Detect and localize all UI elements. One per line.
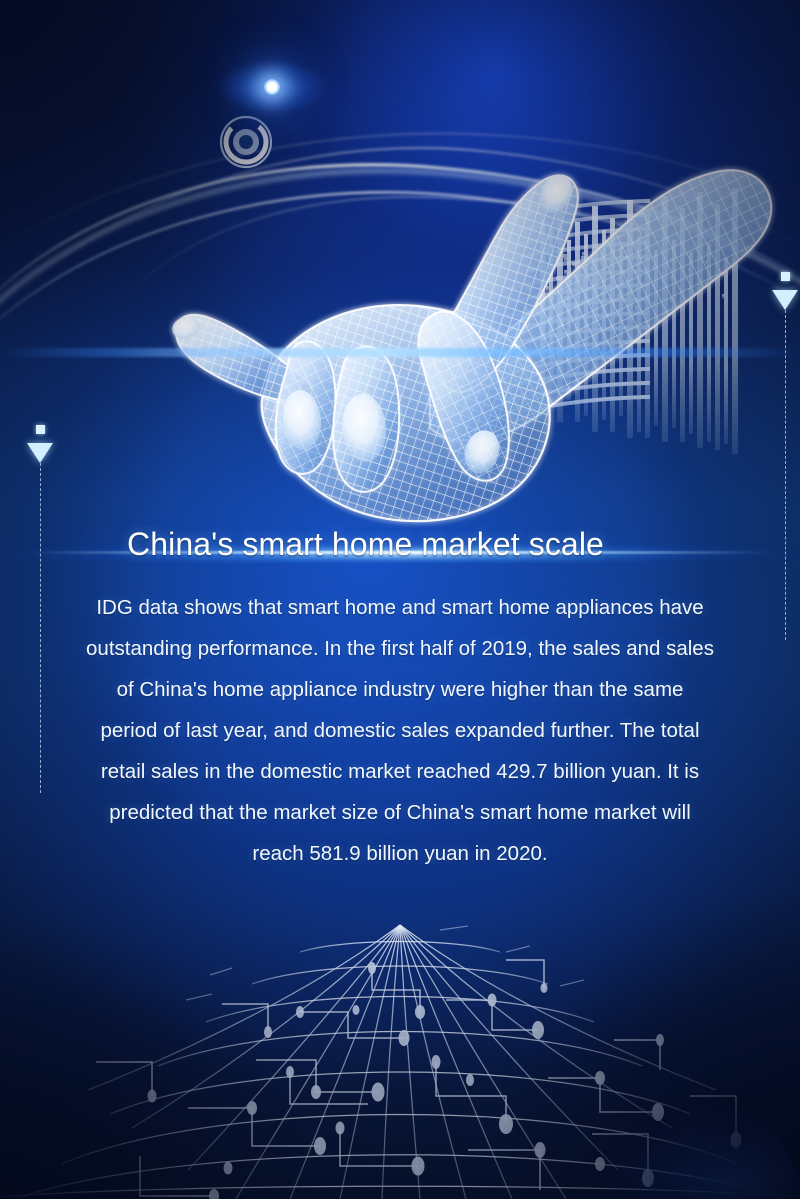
square-marker-icon (781, 272, 790, 281)
dashed-vertical-line (40, 463, 41, 793)
left-rail-marker (27, 425, 53, 793)
down-triangle-icon (772, 290, 798, 310)
down-triangle-icon (27, 443, 53, 463)
right-rail-marker (772, 272, 798, 640)
poster-canvas: China's smart home market scale IDG data… (0, 0, 800, 1199)
body-paragraph: IDG data shows that smart home and smart… (86, 587, 714, 874)
dashed-vertical-line (785, 310, 786, 640)
page-title: China's smart home market scale (127, 524, 604, 564)
square-marker-icon (36, 425, 45, 434)
